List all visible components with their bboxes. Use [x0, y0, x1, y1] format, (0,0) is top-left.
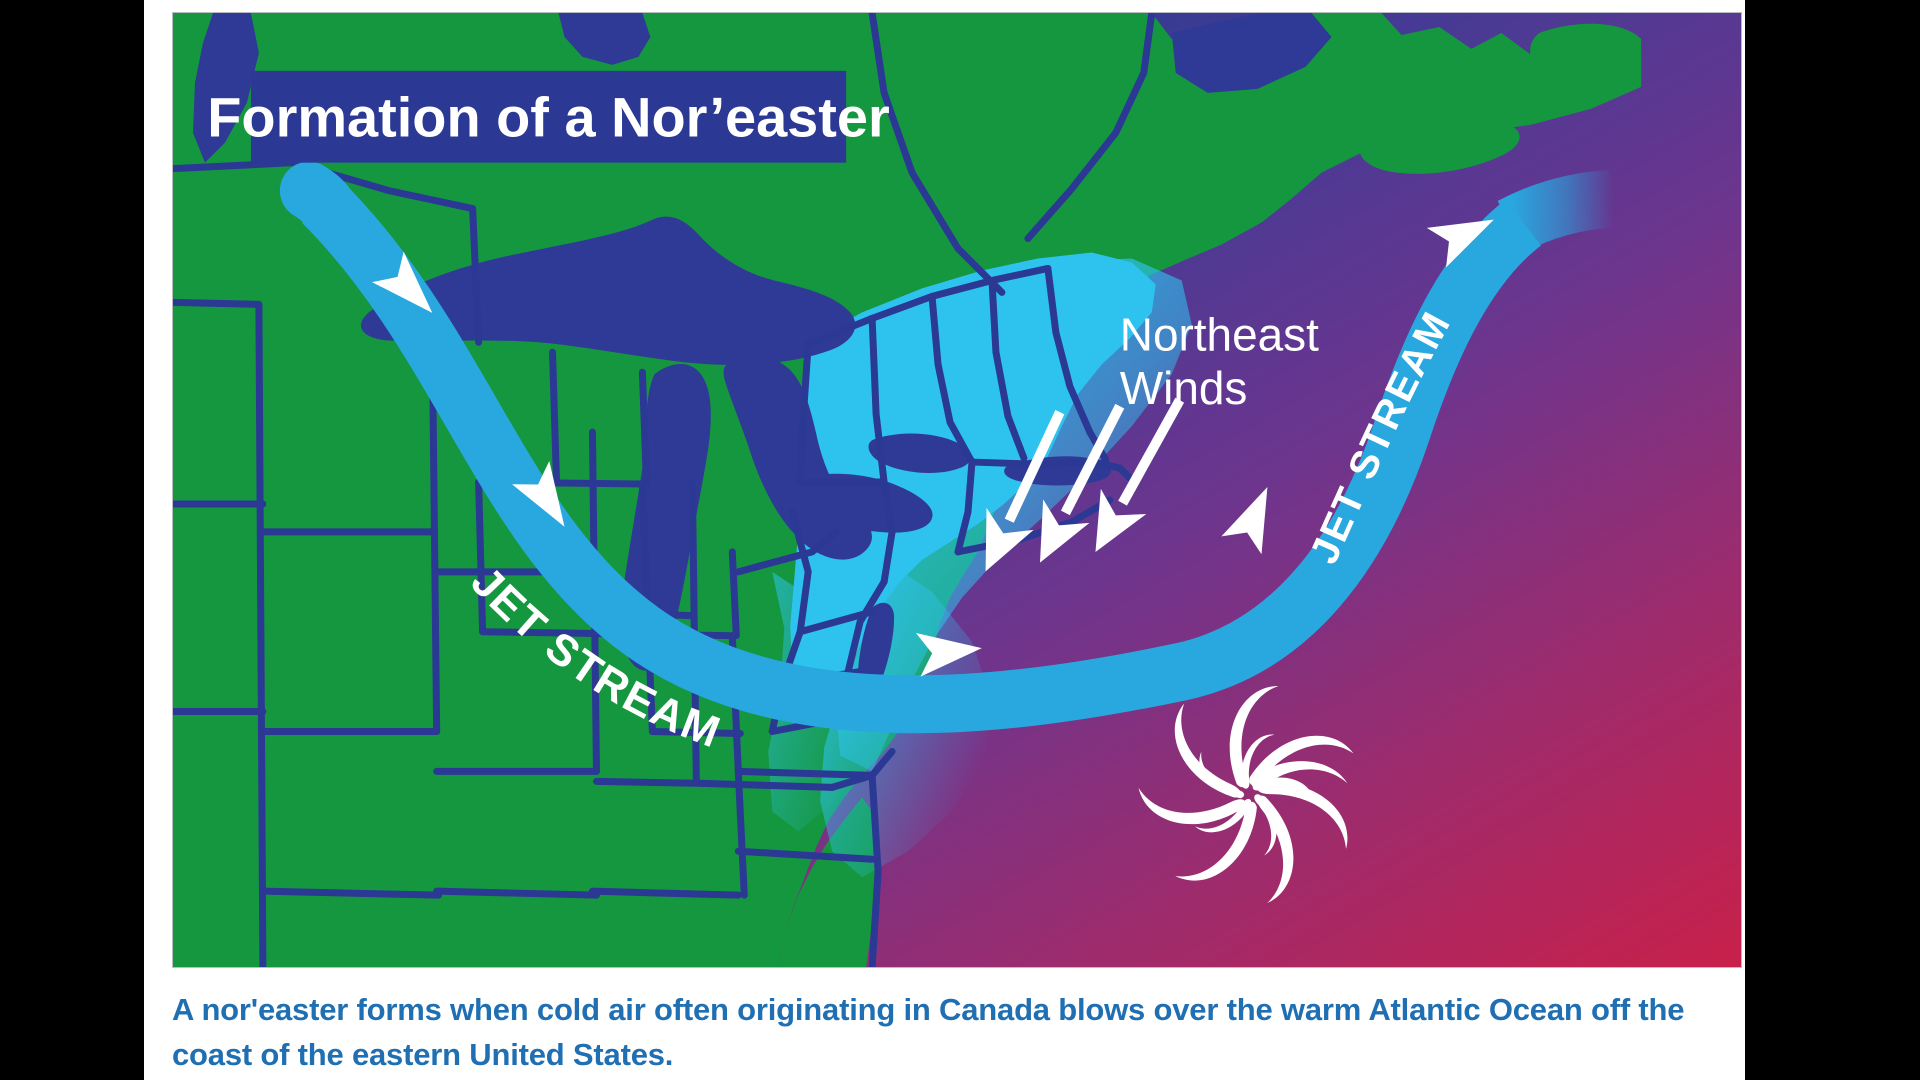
northeast-winds-label-line2: Winds	[1120, 362, 1248, 414]
caption-line-1: A nor'easter forms when cold air often o…	[172, 988, 1702, 1033]
jet-stream-entry-stub	[309, 191, 329, 209]
letterbox-bar-right	[1745, 0, 1920, 1080]
noreaster-diagram-figure: JET STREAM JET STREAM	[172, 12, 1742, 968]
jet-stream-tail-fade	[1511, 199, 1613, 227]
letterbox-bar-left	[0, 0, 144, 1080]
figure-caption: A nor'easter forms when cold air often o…	[172, 988, 1702, 1078]
caption-line-2: coast of the eastern United States.	[172, 1033, 1702, 1078]
noreaster-map-svg: JET STREAM JET STREAM	[173, 13, 1741, 967]
screenshot-root: JET STREAM JET STREAM	[0, 0, 1920, 1080]
diagram-title: Formation of a Nor’easter	[207, 86, 889, 149]
article-panel: JET STREAM JET STREAM	[144, 0, 1745, 1080]
northeast-winds-label-line1: Northeast	[1120, 308, 1319, 360]
